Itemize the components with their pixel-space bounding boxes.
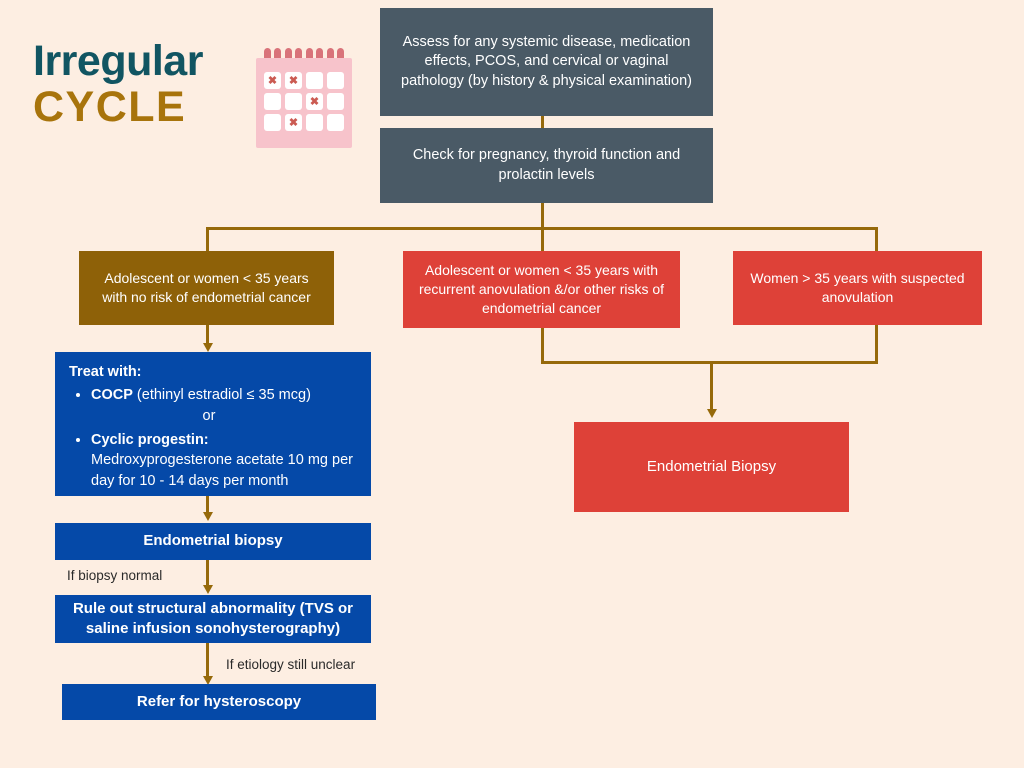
treatment-heading: Treat with: bbox=[69, 362, 357, 383]
calendar-cell bbox=[327, 72, 344, 89]
treatment-item-cocp-detail: (ethinyl estradiol ≤ 35 mcg) bbox=[133, 387, 311, 403]
node-endometrial-biopsy-left[interactable]: Endometrial biopsy bbox=[55, 523, 371, 560]
treatment-item-progestin-detail: Medroxyprogesterone acetate 10 mg per da… bbox=[91, 452, 353, 489]
connector-bus-to-branch-left bbox=[206, 227, 209, 251]
calendar-cell bbox=[327, 114, 344, 131]
node-refer-hysteroscopy-text: Refer for hysteroscopy bbox=[125, 686, 313, 718]
calendar-cell-marked bbox=[264, 72, 281, 89]
calendar-grid bbox=[264, 72, 344, 131]
arrow-merge-to-biopsy bbox=[707, 409, 717, 418]
calendar-cell-marked bbox=[285, 114, 302, 131]
calendar-cell-marked bbox=[285, 72, 302, 89]
connector-check-to-bus bbox=[541, 203, 544, 229]
calendar-icon bbox=[256, 48, 352, 148]
node-rule-out[interactable]: Rule out structural abnormality (TVS or … bbox=[55, 595, 371, 643]
node-branch-left[interactable]: Adolescent or women < 35 years with no r… bbox=[79, 251, 334, 325]
arrow-treat-to-biopsy bbox=[203, 512, 213, 521]
title-line-irregular: Irregular bbox=[33, 38, 283, 84]
node-endometrial-biopsy-right[interactable]: Endometrial Biopsy bbox=[574, 422, 849, 512]
node-branch-left-text: Adolescent or women < 35 years with no r… bbox=[79, 263, 334, 313]
edge-label-etiology-unclear: If etiology still unclear bbox=[226, 657, 355, 672]
connector-biopsy-to-ruleout bbox=[206, 560, 209, 588]
calendar-cell bbox=[306, 72, 323, 89]
treatment-item-progestin: Cyclic progestin:Medroxyprogesterone ace… bbox=[91, 430, 357, 492]
arrow-branchleft-to-treat bbox=[203, 343, 213, 352]
connector-merge-to-biopsy bbox=[710, 361, 713, 412]
node-branch-right-text: Women > 35 years with suspected anovulat… bbox=[733, 263, 982, 313]
calendar-cell bbox=[264, 93, 281, 110]
connector-bus-to-branch-middle bbox=[541, 227, 544, 251]
treatment-item-cocp-label: COCP bbox=[91, 387, 133, 403]
node-check-text: Check for pregnancy, thyroid function an… bbox=[380, 140, 713, 191]
node-endometrial-biopsy-left-text: Endometrial biopsy bbox=[131, 525, 294, 557]
node-rule-out-text: Rule out structural abnormality (TVS or … bbox=[55, 593, 371, 646]
treatment-or: or bbox=[91, 406, 357, 427]
edge-label-biopsy-normal: If biopsy normal bbox=[67, 568, 162, 583]
treatment-list: COCP (ethinyl estradiol ≤ 35 mcg) or Cyc… bbox=[69, 385, 357, 492]
node-branch-middle[interactable]: Adolescent or women < 35 years with recu… bbox=[403, 251, 680, 328]
node-branch-right[interactable]: Women > 35 years with suspected anovulat… bbox=[733, 251, 982, 325]
calendar-cell bbox=[327, 93, 344, 110]
node-check[interactable]: Check for pregnancy, thyroid function an… bbox=[380, 128, 713, 203]
node-assess[interactable]: Assess for any systemic disease, medicat… bbox=[380, 8, 713, 116]
node-branch-middle-text: Adolescent or women < 35 years with recu… bbox=[403, 255, 680, 324]
calendar-cell bbox=[306, 114, 323, 131]
calendar-cell bbox=[285, 93, 302, 110]
treatment-item-progestin-label: Cyclic progestin: bbox=[91, 432, 209, 448]
connector-assess-to-check bbox=[541, 116, 544, 128]
title-line-cycle: CYCLE bbox=[33, 84, 283, 130]
node-refer-hysteroscopy[interactable]: Refer for hysteroscopy bbox=[62, 684, 376, 720]
calendar-cell bbox=[264, 114, 281, 131]
node-endometrial-biopsy-right-text: Endometrial Biopsy bbox=[635, 451, 788, 483]
treatment-item-cocp: COCP (ethinyl estradiol ≤ 35 mcg) bbox=[91, 385, 357, 406]
connector-branchmiddle-down bbox=[541, 328, 544, 364]
calendar-cell-marked bbox=[306, 93, 323, 110]
node-treatment[interactable]: Treat with: COCP (ethinyl estradiol ≤ 35… bbox=[55, 352, 371, 496]
flowchart-canvas: Irregular CYCLE bbox=[0, 0, 1024, 768]
page-title: Irregular CYCLE bbox=[33, 38, 283, 131]
connector-bus-to-branch-right bbox=[875, 227, 878, 251]
node-assess-text: Assess for any systemic disease, medicat… bbox=[380, 27, 713, 98]
connector-branchright-down bbox=[875, 325, 878, 364]
